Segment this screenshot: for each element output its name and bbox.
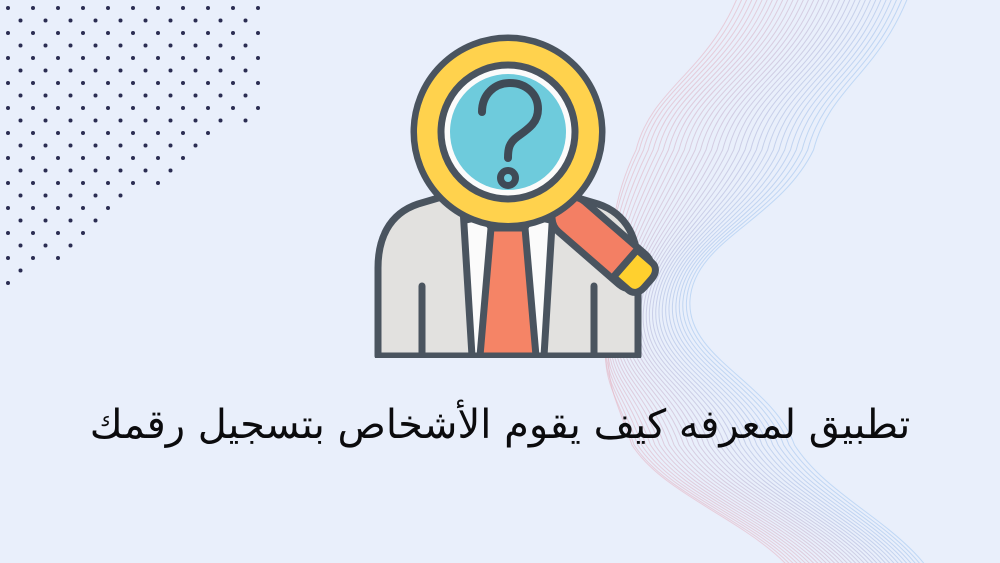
magnifier-head-group	[414, 38, 602, 226]
headline-text: تطبيق لمعرفه كيف يقوم الأشخاص بتسجيل رقم…	[90, 402, 910, 448]
person-with-magnifier-head-illustration	[348, 28, 668, 358]
headline-block: تطبيق لمعرفه كيف يقوم الأشخاص بتسجيل رقم…	[0, 386, 1000, 464]
necktie-blade	[480, 228, 536, 356]
banner-canvas: تطبيق لمعرفه كيف يقوم الأشخاص بتسجيل رقم…	[0, 0, 1000, 563]
